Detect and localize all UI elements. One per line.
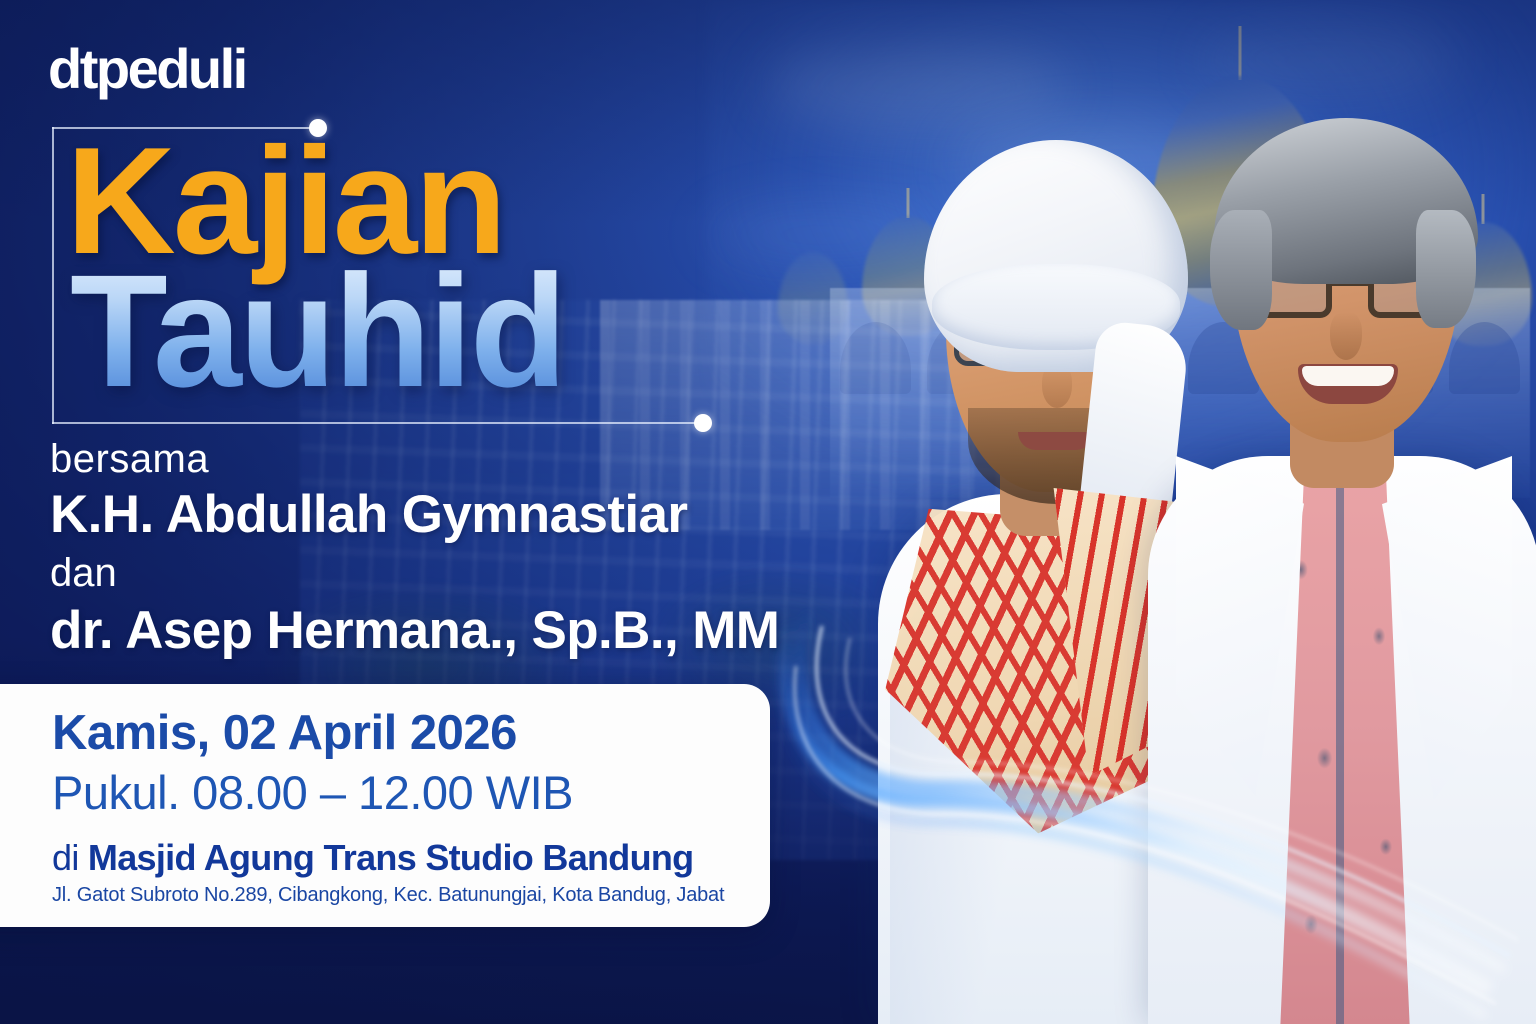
and-label: dan bbox=[50, 551, 117, 596]
event-date: Kamis, 02 April 2026 bbox=[52, 705, 517, 761]
speaker-2-name: dr. Asep Hermana., Sp.B., MM bbox=[50, 600, 779, 661]
title-line-2: Tauhid bbox=[70, 256, 565, 406]
decor-frame-bottom bbox=[52, 422, 704, 424]
venue-name: Masjid Agung Trans Studio Bandung bbox=[88, 837, 694, 878]
speaker-2-photo bbox=[1140, 60, 1536, 1024]
with-label: bersama bbox=[50, 437, 209, 482]
decor-frame-left bbox=[52, 127, 54, 424]
brand-logo: dtpeduli bbox=[48, 36, 246, 101]
event-info-card: Kamis, 02 April 2026 Pukul. 08.00 – 12.0… bbox=[0, 684, 770, 927]
speaker-photos bbox=[830, 0, 1536, 1024]
speaker-1-name: K.H. Abdullah Gymnastiar bbox=[50, 484, 687, 545]
event-poster: dtpeduli Kajian Tauhid bersama K.H. Abdu… bbox=[0, 0, 1536, 1024]
event-venue: di Masjid Agung Trans Studio Bandung bbox=[52, 837, 693, 879]
event-time: Pukul. 08.00 – 12.00 WIB bbox=[52, 765, 573, 820]
venue-prefix: di bbox=[52, 837, 88, 878]
event-address: Jl. Gatot Subroto No.289, Cibangkong, Ke… bbox=[52, 884, 724, 907]
frame-dot-bottom-right-icon bbox=[694, 414, 712, 432]
